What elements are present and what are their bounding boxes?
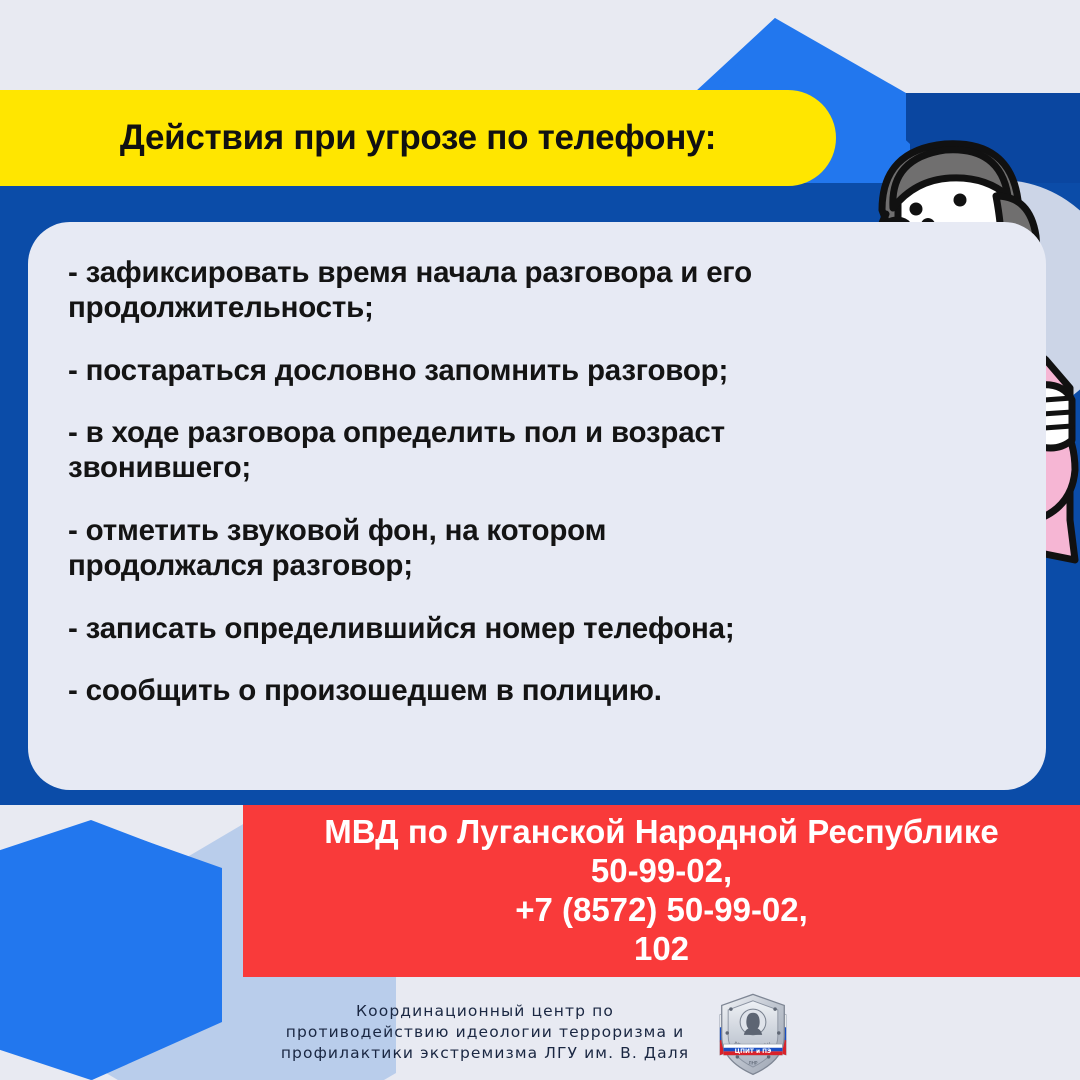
instruction-item-2: - постараться дословно запомнить разгово… xyxy=(68,354,768,389)
finger-line-2 xyxy=(1042,412,1072,414)
instruction-item-3: - в ходе разговора определить пол и возр… xyxy=(68,416,788,486)
contact-phone-local[interactable]: 50-99-02, xyxy=(591,852,732,891)
instruction-item-1: - зафиксировать время начала разговора и… xyxy=(68,256,898,326)
footer: Координационный центр по противодействию… xyxy=(0,985,1080,1080)
instructions-card: - зафиксировать время начала разговора и… xyxy=(28,222,1046,790)
poster-root: Действия при угрозе по телефону: - зафик… xyxy=(0,0,1080,1080)
title-banner: Действия при угрозе по телефону: xyxy=(0,90,836,186)
contact-box: МВД по Луганской Народной Республике 50-… xyxy=(243,805,1080,977)
shield-emblem-logo: КООРДИНАЦИОННЫЙ ЦЕНТР ЦПИТ и ПЭ ЛНР xyxy=(707,987,799,1079)
eye-left xyxy=(910,203,923,216)
instruction-item-5: - записать определившийся номер телефона… xyxy=(68,612,768,647)
footer-line-1: Координационный центр по xyxy=(281,1001,689,1022)
footer-credit: Координационный центр по противодействию… xyxy=(281,1001,689,1064)
footer-line-3: профилактики экстремизма ЛГУ им. В. Даля xyxy=(281,1043,689,1064)
finger-line-1 xyxy=(1044,398,1072,400)
instruction-item-4: - отметить звуковой фон, на котором прод… xyxy=(68,514,808,584)
instruction-item-6: - сообщить о произошедшем в полицию. xyxy=(68,674,928,709)
contact-phone-full[interactable]: +7 (8572) 50-99-02, xyxy=(515,891,808,930)
contact-phone-emergency[interactable]: 102 xyxy=(634,930,689,969)
hair-fringe xyxy=(893,150,1008,208)
finger-line-3 xyxy=(1044,426,1072,428)
logo-sub-text: ЛНР xyxy=(749,1060,758,1065)
logo-banner: ЦПИТ и ПЭ xyxy=(724,1044,783,1055)
footer-line-2: противодействию идеологии терроризма и xyxy=(281,1022,689,1043)
logo-banner-text: ЦПИТ и ПЭ xyxy=(735,1048,772,1054)
eye-right xyxy=(954,194,967,207)
page-title: Действия при угрозе по телефону: xyxy=(60,118,716,158)
contact-organization: МВД по Луганской Народной Республике xyxy=(324,813,998,852)
